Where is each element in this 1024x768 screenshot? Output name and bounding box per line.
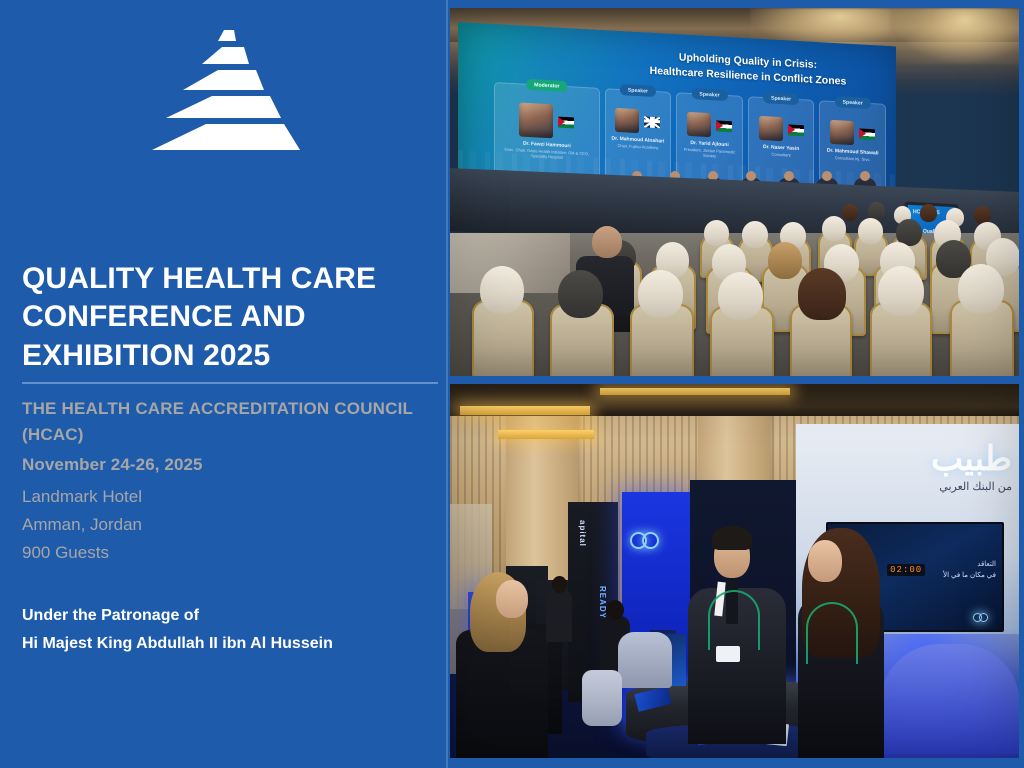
list-item-guests: 900 Guests: [22, 539, 442, 567]
patronage-block: Under the Patronage of Hi Majest King Ab…: [22, 602, 442, 657]
avatar: [615, 108, 639, 133]
standee-label-ready: READY: [598, 586, 607, 619]
conference-hall-photo: Upholding Quality in Crisis: Healthcare …: [450, 8, 1019, 376]
standee-label: apital: [578, 520, 587, 547]
cove-light: [460, 406, 590, 415]
event-details-list: Landmark Hotel Amman, Jordan 900 Guests: [22, 483, 442, 568]
infinity-logo-icon: [630, 532, 659, 549]
jordan-flag-icon: [788, 124, 804, 136]
organizer-name: THE HEALTH CARE ACCREDITATION COUNCIL (H…: [22, 396, 442, 448]
uk-flag-icon: [644, 116, 660, 128]
jordan-flag-icon: [558, 116, 574, 128]
divider: [22, 382, 438, 384]
infinity-logo-icon: [973, 613, 988, 622]
speaker-badge: Speaker: [763, 92, 799, 105]
speaker-badge: Speaker: [835, 96, 871, 109]
exhibition-booth-photo: apital READY طبيب من البنك العربي 02:00: [450, 384, 1019, 758]
tv-clock: 02:00: [887, 564, 925, 576]
cove-light: [600, 388, 790, 395]
tv-arabic-text: التعاقد في مكان ما في الأ: [943, 560, 996, 581]
cove-light: [498, 430, 594, 439]
chandelier-light: [890, 8, 1019, 64]
panel-divider: [446, 0, 448, 768]
lounge-chair: [618, 632, 672, 688]
hcac-pyramid-logo: [150, 20, 310, 165]
speaker-role: President, Jordan Paramedic Society: [677, 146, 742, 160]
badge-lanyard: [716, 646, 740, 662]
arabic-banner-main: طبيب: [842, 442, 1012, 476]
speaker-badge: Speaker: [691, 88, 727, 101]
lounge-stool: [582, 670, 622, 726]
arabic-banner: طبيب من البنك العربي: [842, 442, 1012, 493]
patronage-line-2: Hi Majest King Abdullah II ibn Al Hussei…: [22, 630, 442, 658]
arabic-banner-sub: من البنك العربي: [842, 480, 1012, 493]
list-item-venue: Landmark Hotel: [22, 483, 442, 511]
presentation-slide: QUALITY HEALTH CARE CONFERENCE AND EXHIB…: [0, 0, 1024, 768]
avatar: [759, 116, 783, 141]
speaker-badge: Speaker: [620, 84, 656, 97]
event-dates: November 24-26, 2025: [22, 455, 203, 475]
jordan-flag-icon: [716, 120, 732, 132]
avatar: [519, 102, 553, 138]
jordan-flag-icon: [859, 128, 875, 140]
list-item-city: Amman, Jordan: [22, 511, 442, 539]
patronage-line-1: Under the Patronage of: [22, 602, 442, 630]
moderator-badge: Moderator: [526, 79, 567, 92]
avatar: [687, 112, 711, 137]
page-title: QUALITY HEALTH CARE CONFERENCE AND EXHIB…: [22, 260, 432, 375]
left-info-panel: QUALITY HEALTH CARE CONFERENCE AND EXHIB…: [0, 0, 447, 768]
avatar: [830, 120, 854, 145]
